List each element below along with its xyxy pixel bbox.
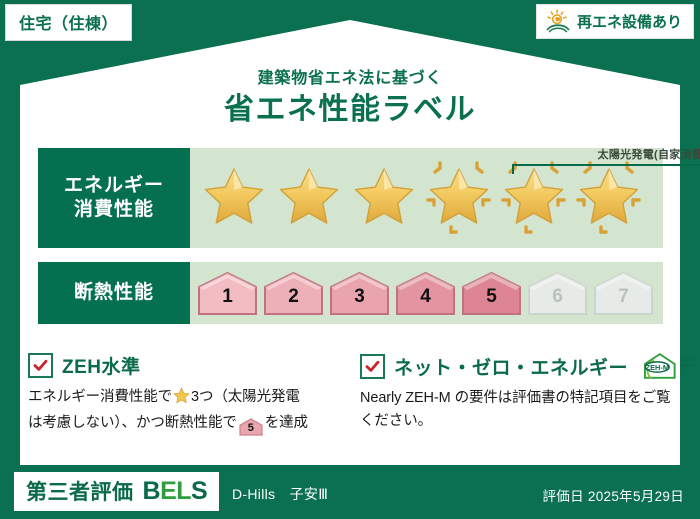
star-sparkle-icon [421, 148, 496, 248]
zeh-body-part1: エネルギー消費性能で [28, 389, 172, 405]
inline-grade-badge: 5 [239, 418, 263, 436]
check-icon [28, 353, 53, 378]
inline-grade-value: 5 [239, 418, 263, 439]
zeh-level-body: エネルギー消費性能で3つ（太陽光発電は考慮しない）、かつ断熱性能で5を達成 [28, 386, 344, 436]
gold-star-icon [351, 166, 417, 230]
energy-performance-header: エネルギー 消費性能 [38, 148, 190, 248]
building-type-badge: 住宅（住棟） [5, 4, 132, 41]
energy-performance-label: 住宅（住棟） 再エネ設備あり 建築物省エネ法に基づく 省エネ性能ラベル [0, 0, 700, 519]
net-zero-body: Nearly ZEH-M の要件は評価書の特記項目をご覧ください。 [360, 387, 676, 434]
energy-star-5 [496, 148, 571, 248]
solar-sun-icon [545, 9, 571, 33]
energy-stars-area: 太陽光発電(自家消費)分 [190, 148, 663, 248]
energy-star-2 [271, 148, 346, 248]
renewable-equipment-label: 再エネ設備あり [577, 11, 682, 32]
energy-star-1 [196, 148, 271, 248]
bels-badge: 第三者評価 BELS [14, 472, 219, 511]
solar-range-bracket [512, 164, 700, 174]
solar-self-consumption-note: 太陽光発電(自家消費)分 [508, 146, 700, 162]
insulation-grade-value: 5 [486, 287, 497, 316]
insulation-grade-7: 7 [592, 270, 655, 316]
energy-label-line2: 消費性能 [74, 198, 154, 222]
zeh-body-part3: を達成 [265, 415, 308, 431]
insulation-grade-value: 1 [222, 287, 233, 316]
zeh-body-star-text: 3つ（太陽光発電 [191, 389, 300, 405]
zeh-logo-sub-line1: Nearly [680, 357, 697, 363]
zeh-logo-sub-line2: ZEH-M [680, 363, 693, 375]
insulation-grade-value: 4 [420, 287, 431, 316]
zeh-level-title-row: ZEH水準 [28, 352, 344, 379]
check-icon [360, 354, 385, 379]
insulation-grade-value: 7 [618, 287, 629, 316]
energy-star-4 [421, 148, 496, 248]
inline-star-icon [173, 387, 190, 412]
bels-logo: BELS [143, 477, 208, 506]
insulation-grade-4: 4 [394, 270, 457, 316]
insulation-grade-3: 3 [328, 270, 391, 316]
insulation-grade-value: 2 [288, 287, 299, 316]
third-party-eval-label: 第三者評価 [26, 476, 134, 506]
bels-letter-s: S [191, 477, 207, 505]
energy-performance-row: エネルギー 消費性能 太陽光発電(自家消費)分 [38, 148, 663, 248]
insulation-label: 断熱性能 [74, 281, 154, 305]
renewable-equipment-badge: 再エネ設備あり [536, 4, 694, 39]
project-name: D-Hills 子安Ⅲ [232, 484, 328, 504]
energy-label-line1: エネルギー [64, 174, 164, 198]
zeh-level-block: ZEH水準 エネルギー消費性能で3つ（太陽光発電は考慮しない）、かつ断熱性能で5… [28, 352, 344, 436]
label-title: 省エネ性能ラベル [0, 84, 700, 128]
zeh-level-title: ZEH水準 [62, 352, 141, 379]
star-sparkle-icon [496, 148, 571, 248]
building-type-label: 住宅（住棟） [19, 16, 118, 33]
insulation-performance-header: 断熱性能 [38, 262, 190, 324]
evaluation-date: 評価日 2025年5月29日 [542, 485, 684, 505]
insulation-grade-6: 6 [526, 270, 589, 316]
insulation-grades-area: 1234567 [190, 262, 663, 324]
label-footer: 第三者評価 BELS D-Hills 子安Ⅲ 評価日 2025年5月29日 [0, 465, 700, 519]
star-sparkle-icon [571, 148, 646, 248]
energy-star-rating [190, 148, 663, 248]
insulation-grade-1: 1 [196, 270, 259, 316]
zeh-m-logo: ZEH-M Nearly ZEH-M [642, 352, 697, 380]
insulation-grade-value: 6 [552, 287, 563, 316]
insulation-grade-value: 3 [354, 287, 365, 316]
energy-star-6 [571, 148, 646, 248]
energy-star-3 [346, 148, 421, 248]
net-zero-title-row: ネット・ゼロ・エネルギー ZEH-M Nearly ZEH-M [360, 352, 676, 380]
bels-letters-el: EL [160, 477, 191, 505]
gold-star-icon [276, 166, 342, 230]
svg-text:ZEH-M: ZEH-M [646, 363, 669, 372]
insulation-grade-5: 5 [460, 270, 523, 316]
insulation-grade-scale: 1234567 [190, 262, 663, 324]
net-zero-energy-block: ネット・ゼロ・エネルギー ZEH-M Nearly ZEH-M Nearly Z… [360, 352, 676, 434]
bels-letter-b: B [143, 477, 161, 505]
net-zero-title: ネット・ゼロ・エネルギー [394, 353, 628, 380]
gold-star-icon [201, 166, 267, 230]
insulation-performance-row: 断熱性能 1234567 [38, 262, 663, 324]
insulation-grade-2: 2 [262, 270, 325, 316]
zeh-body-part2: は考慮しない）、かつ断熱性能で [28, 415, 237, 431]
